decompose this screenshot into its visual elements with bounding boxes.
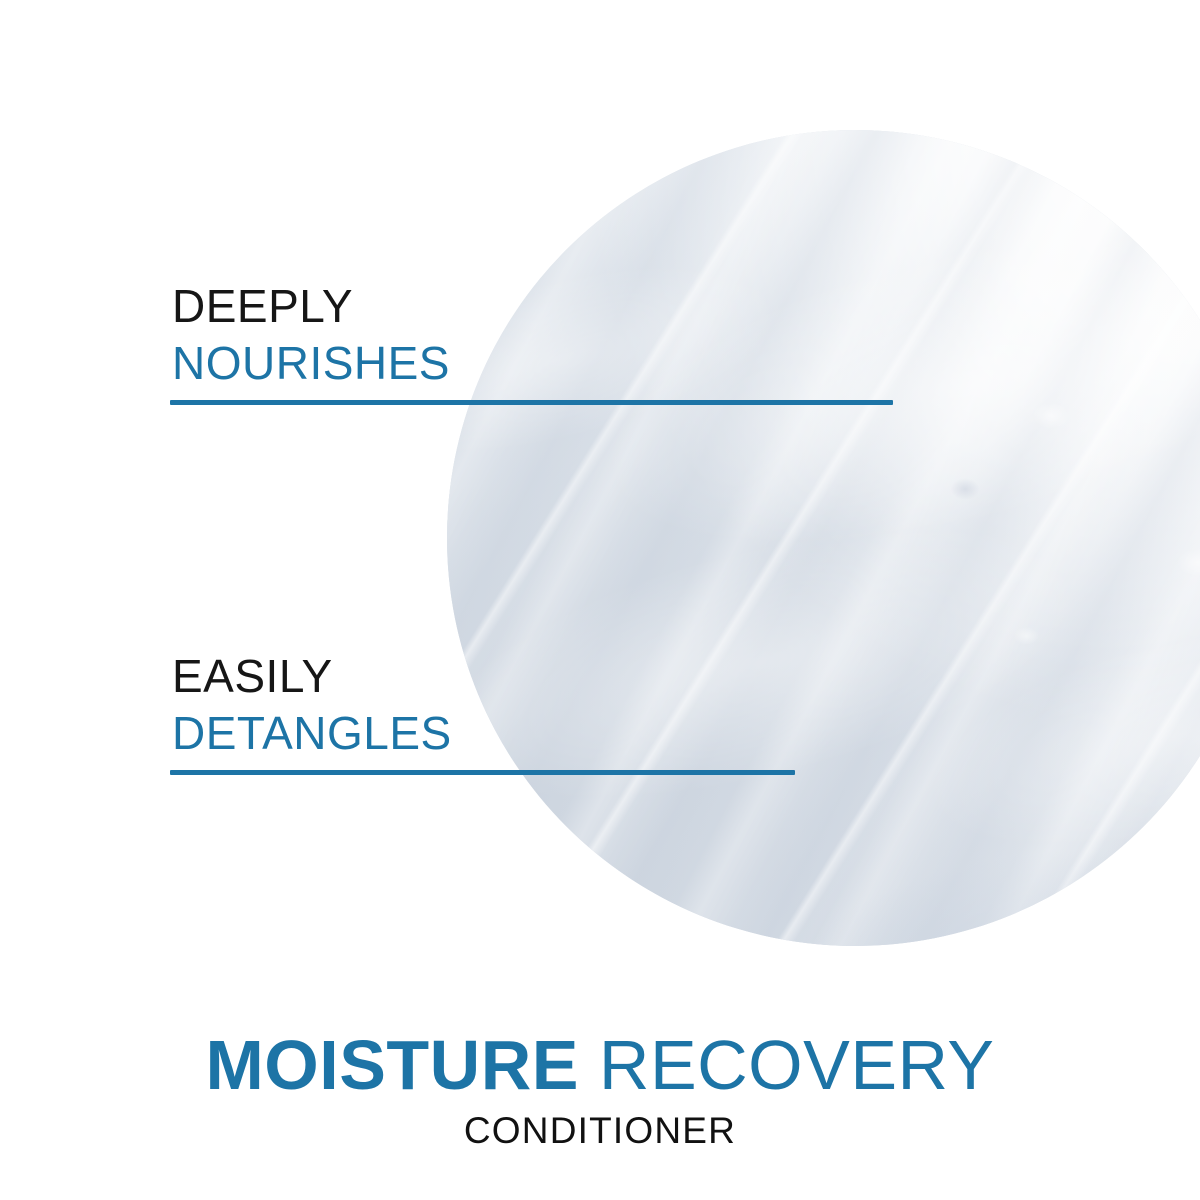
benefit-0-line2: NOURISHES — [170, 334, 1070, 392]
benefit-1-line2: DETANGLES — [170, 704, 1070, 762]
benefit-1-underline — [170, 770, 795, 775]
product-title-block: MOISTURE RECOVERY CONDITIONER — [0, 1026, 1200, 1154]
benefit-1-line1: EASILY — [170, 648, 1070, 704]
product-subtitle: CONDITIONER — [0, 1108, 1200, 1154]
benefit-callout-nourishes: DEEPLY NOURISHES — [170, 278, 1070, 405]
product-marketing-banner: DEEPLY NOURISHES EASILY DETANGLES MOISTU… — [0, 0, 1200, 1200]
cream-texture-circle — [447, 130, 1200, 946]
product-title-light: RECOVERY — [599, 1026, 995, 1104]
benefit-0-underline — [170, 400, 893, 405]
product-title-bold: MOISTURE — [205, 1026, 578, 1104]
benefit-0-line1: DEEPLY — [170, 278, 1070, 334]
benefit-callout-detangles: EASILY DETANGLES — [170, 648, 1070, 775]
product-title: MOISTURE RECOVERY — [0, 1026, 1200, 1104]
